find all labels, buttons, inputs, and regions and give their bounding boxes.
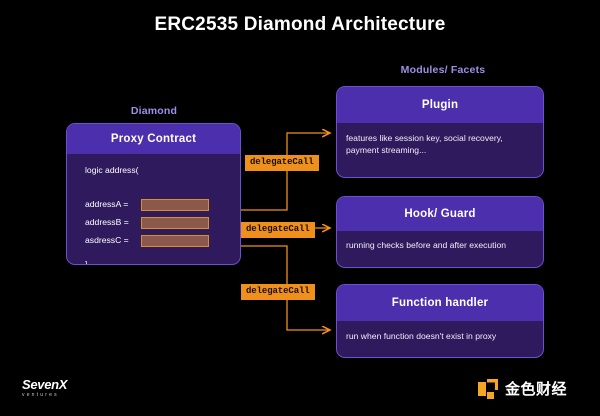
delegatecall-badge: delegateCall (245, 155, 319, 171)
diagram-canvas: ERC2535 Diamond Architecture Diamond Mod… (0, 0, 600, 416)
address-label: asdressC = (85, 234, 141, 246)
proxy-contract-card[interactable]: Proxy Contract logic address( addressA =… (66, 123, 241, 265)
modules-caption: Modules/ Facets (340, 64, 546, 76)
module-description: run when function doesn't exist in proxy (337, 321, 543, 342)
address-slot[interactable] (141, 199, 209, 211)
proxy-contract-body: logic address( addressA = addressB = asd… (67, 154, 240, 265)
module-card-plugin[interactable]: Plugin features like session key, social… (336, 86, 544, 178)
jinse-square-mark-icon (478, 379, 498, 399)
diamond-caption: Diamond (96, 105, 212, 117)
delegatecall-badge: delegateCall (241, 222, 315, 238)
address-slot[interactable] (141, 235, 209, 247)
address-row[interactable]: asdressC = (85, 234, 209, 247)
module-title: Plugin (337, 87, 543, 123)
code-line-open: logic address( (85, 164, 139, 176)
proxy-contract-title: Proxy Contract (67, 124, 240, 154)
address-label: addressA = (85, 198, 141, 210)
delegatecall-badge: delegateCall (241, 284, 315, 300)
module-card-hook-guard[interactable]: Hook/ Guard running checks before and af… (336, 196, 544, 268)
sevenx-logo-subtitle: ventures (22, 393, 67, 398)
module-title: Hook/ Guard (337, 197, 543, 231)
address-row[interactable]: addressA = (85, 198, 209, 211)
jinse-logo: 金色财经 (478, 379, 567, 399)
module-description: running checks before and after executio… (337, 231, 543, 251)
jinse-logo-name: 金色财经 (505, 382, 567, 397)
address-slot[interactable] (141, 217, 209, 229)
address-row[interactable]: addressB = (85, 216, 209, 229)
sevenx-logo-name: SevenX (22, 378, 67, 391)
code-line-close: } (85, 258, 88, 265)
page-title: ERC2535 Diamond Architecture (0, 14, 600, 36)
module-card-function-handler[interactable]: Function handler run when function doesn… (336, 284, 544, 358)
module-description: features like session key, social recove… (337, 123, 543, 157)
sevenx-logo: SevenX ventures (22, 378, 67, 398)
module-title: Function handler (337, 285, 543, 321)
address-label: addressB = (85, 216, 141, 228)
